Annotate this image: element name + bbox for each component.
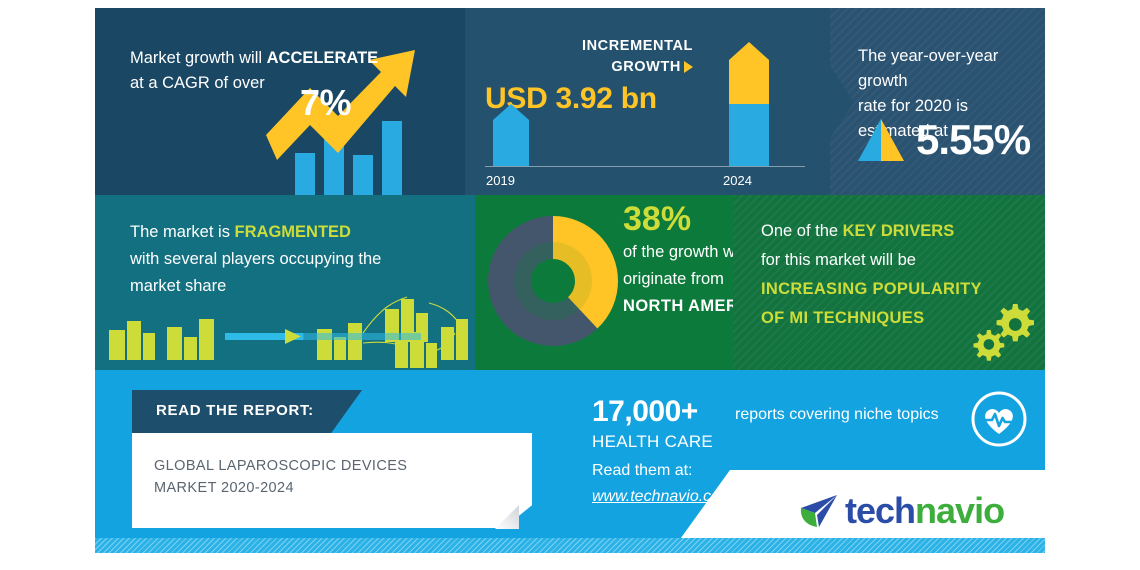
triangle-up-icon <box>858 119 904 161</box>
drivers-line1-prefix: One of the <box>761 222 843 240</box>
caret-right-icon <box>684 61 693 73</box>
incremental-title-line2: GROWTH <box>611 59 681 75</box>
panel-footer: READ THE REPORT: GLOBAL LAPAROSCOPIC DEV… <box>95 370 1045 553</box>
drivers-line1-bold: KEY DRIVERS <box>843 222 955 240</box>
donut-chart <box>483 211 623 351</box>
donut-percent: 38% <box>623 199 733 239</box>
read-the-report-tab[interactable]: READ THE REPORT: <box>132 390 362 435</box>
footer-hatch-strip <box>95 538 1045 553</box>
donut-region: NORTH AMERICA <box>623 293 733 320</box>
panel-key-drivers: One of the KEY DRIVERS for this market w… <box>733 195 1045 370</box>
report-title-card[interactable]: GLOBAL LAPAROSCOPIC DEVICES MARKET 2020-… <box>132 433 532 528</box>
bar-2024 <box>729 42 769 166</box>
incremental-axis-line <box>485 166 805 167</box>
fragmented-line1-bold: FRAGMENTED <box>235 223 351 241</box>
logo-text-a: tech <box>845 490 915 531</box>
reports-count-caption: reports covering niche topics <box>735 406 939 424</box>
incremental-label-2019: 2019 <box>486 173 515 188</box>
cagr-line1-prefix: Market growth will <box>130 49 267 67</box>
bar-2019 <box>493 104 529 166</box>
gears-icon <box>967 300 1037 362</box>
fragmented-line2: with several players occupying the <box>130 250 381 268</box>
cagr-growth-chart <box>95 8 465 195</box>
cagr-value: 7% <box>300 82 351 124</box>
incremental-label-2024: 2024 <box>723 173 752 188</box>
panel-cagr: Market growth will ACCELERATE at a CAGR … <box>95 8 465 195</box>
reports-count: 17,000+ <box>592 395 698 429</box>
yoy-value-row: 5.55% <box>858 116 1030 164</box>
panel-incremental-growth: INCREMENTAL GROWTH USD 3.92 bn 2019 2024 <box>465 8 830 195</box>
yoy-line1: The year-over-year growth <box>858 47 998 90</box>
drivers-line2: for this market will be <box>761 251 916 269</box>
infographic-board: Market growth will ACCELERATE at a CAGR … <box>95 8 1045 553</box>
cagr-line1-bold: ACCELERATE <box>267 49 379 67</box>
incremental-title-line1: INCREMENTAL <box>582 38 693 54</box>
incremental-growth-title: INCREMENTAL GROWTH <box>493 36 693 78</box>
report-title: GLOBAL LAPAROSCOPIC DEVICES MARKET 2020-… <box>154 455 407 499</box>
segment-name: HEALTH CARE <box>592 432 713 452</box>
donut-copy: 38% of the growth will originate from NO… <box>623 199 733 320</box>
donut-line2: originate from <box>623 266 733 293</box>
yoy-value: 5.55% <box>916 116 1030 164</box>
technavio-wordmark: technavio <box>845 490 1004 532</box>
read-the-report-label: READ THE REPORT: <box>156 402 314 419</box>
read-them-at-label: Read them at: <box>592 462 693 480</box>
paper-plane-icon <box>795 491 839 531</box>
cagr-copy: Market growth will ACCELERATE at a CAGR … <box>130 46 430 96</box>
panel-yoy-growth: The year-over-year growth rate for 2020 … <box>830 8 1045 195</box>
infographic-canvas: Market growth will ACCELERATE at a CAGR … <box>0 0 1140 570</box>
donut-line1: of the growth will <box>623 239 733 266</box>
report-title-line1: GLOBAL LAPAROSCOPIC DEVICES <box>154 458 407 474</box>
panel-fragmented-market: The market is FRAGMENTED with several pl… <box>95 195 475 370</box>
fragmented-line1-prefix: The market is <box>130 223 235 241</box>
cagr-line2: at a CAGR of over <box>130 74 265 92</box>
technavio-logo: technavio <box>795 490 1004 532</box>
panel-north-america-share: 38% of the growth will originate from NO… <box>475 195 733 370</box>
buildings-icon <box>95 285 475 370</box>
heart-pulse-icon <box>970 390 1028 448</box>
report-title-line2: MARKET 2020-2024 <box>154 480 294 496</box>
logo-text-b: navio <box>915 490 1004 531</box>
